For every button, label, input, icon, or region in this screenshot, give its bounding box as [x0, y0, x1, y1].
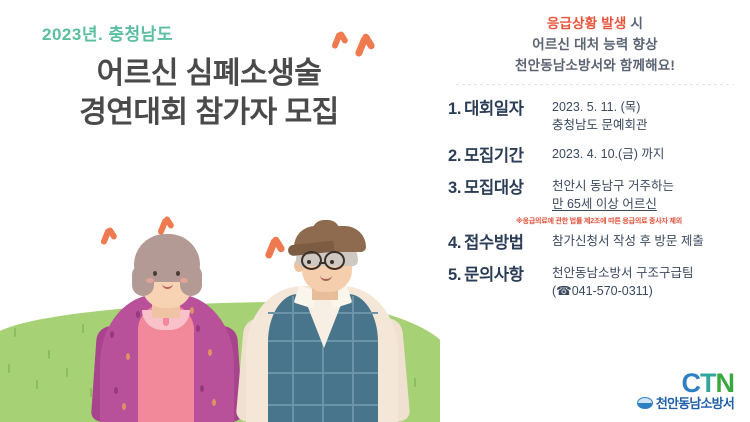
- item-5-title: 문의사항: [464, 266, 524, 284]
- item-3-title: 모집대상: [464, 179, 524, 197]
- item-4-label: 4.접수방법: [448, 228, 552, 253]
- man-glasses-right: [324, 251, 345, 270]
- item-1-value: 2023. 5. 11. (목) 충청남도 문예회관: [552, 94, 750, 134]
- item-4-value-line1: 참가신청서 작성 후 방문 제출: [552, 232, 750, 250]
- item-5-value: 천안동남소방서 구조구급팀 (☎041-570-0311): [552, 260, 750, 300]
- header-line-1-rest: 시: [627, 16, 644, 31]
- item-4-number: 4.: [448, 234, 461, 252]
- item-3-value-line2: 만 65세 이상 어르신: [552, 195, 750, 213]
- item-3-value: 천안시 동남구 거주하는 만 65세 이상 어르신: [552, 173, 750, 213]
- poster-title-line1: 어르신 심폐소생술: [0, 54, 418, 94]
- item-1-title: 대회일자: [464, 100, 524, 118]
- poster-root: 2023년. 충청남도 어르신 심폐소생술 경연대회 참가자 모집: [0, 0, 750, 422]
- item-1-number: 1.: [448, 100, 461, 118]
- item-2-value-line1: 2023. 4. 10.(금) 까지: [552, 145, 750, 163]
- logo-organization-name: 천안동남소방서: [656, 393, 734, 412]
- poster-title-line2: 경연대회 참가자 모집: [0, 93, 418, 133]
- item-1-value-line2: 충청남도 문예회관: [552, 116, 750, 134]
- info-list: 1.대회일자 2023. 5. 11. (목) 충청남도 문예회관 2.모집기간…: [440, 94, 750, 301]
- elderly-man-figure: [240, 190, 410, 422]
- woman-hair: [134, 234, 200, 282]
- item-5-label: 5.문의사항: [448, 260, 552, 285]
- list-item: 5.문의사항 천안동남소방서 구조구급팀 (☎041-570-0311): [448, 260, 750, 300]
- header-emphasis: 응급상황 발생: [547, 16, 627, 31]
- man-glasses-bridge: [319, 262, 326, 264]
- item-2-label: 2.모집기간: [448, 141, 552, 166]
- header-line-2: 어르신 대처 능력 향상: [440, 35, 750, 56]
- item-2-number: 2.: [448, 147, 461, 165]
- ctn-logo: CTN 천안동남소방서: [637, 370, 734, 412]
- list-item: 1.대회일자 2023. 5. 11. (목) 충청남도 문예회관: [448, 94, 750, 134]
- list-item: 3.모집대상 천안시 동남구 거주하는 만 65세 이상 어르신: [448, 173, 750, 213]
- elderly-couple-illustration: [0, 172, 440, 422]
- eligibility-note: ※응급의료에 관한 법률 제2조에 따른 응급의료 종사자 제외: [448, 216, 750, 226]
- item-3-label: 3.모집대상: [448, 173, 552, 198]
- item-3-value-line1: 천안시 동남구 거주하는: [552, 177, 750, 195]
- item-4-title: 접수방법: [464, 234, 524, 252]
- poster-title: 어르신 심폐소생술 경연대회 참가자 모집: [0, 54, 430, 133]
- elderly-woman-figure: [92, 210, 242, 422]
- item-1-value-line1: 2023. 5. 11. (목): [552, 98, 750, 116]
- header-divider: [456, 84, 734, 85]
- list-item: 2.모집기간 2023. 4. 10.(금) 까지: [448, 141, 750, 166]
- man-glasses-left: [301, 251, 322, 270]
- panel-header: 응급상황 발생 시 어르신 대처 능력 향상 천안동남소방서와 함께해요!: [440, 0, 750, 77]
- item-2-title: 모집기간: [464, 147, 524, 165]
- info-panel: 응급상황 발생 시 어르신 대처 능력 향상 천안동남소방서와 함께해요! 1.…: [440, 0, 750, 422]
- fire-department-emblem-icon: [637, 397, 653, 409]
- header-line-1: 응급상황 발생 시: [440, 14, 750, 35]
- list-item: 4.접수방법 참가신청서 작성 후 방문 제출: [448, 228, 750, 253]
- item-5-value-line2: (☎041-570-0311): [552, 282, 750, 300]
- header-line-3: 천안동남소방서와 함께해요!: [440, 56, 750, 77]
- item-3-number: 3.: [448, 179, 461, 197]
- item-5-number: 5.: [448, 266, 461, 284]
- item-4-value: 참가신청서 작성 후 방문 제출: [552, 228, 750, 250]
- man-cap-top: [312, 220, 340, 232]
- logo-subtext-row: 천안동남소방서: [637, 393, 734, 412]
- item-5-value-line1: 천안동남소방서 구조구급팀: [552, 264, 750, 282]
- illustration-panel: 2023년. 충청남도 어르신 심폐소생술 경연대회 참가자 모집: [0, 0, 440, 422]
- item-2-value: 2023. 4. 10.(금) 까지: [552, 141, 750, 163]
- item-1-label: 1.대회일자: [448, 94, 552, 119]
